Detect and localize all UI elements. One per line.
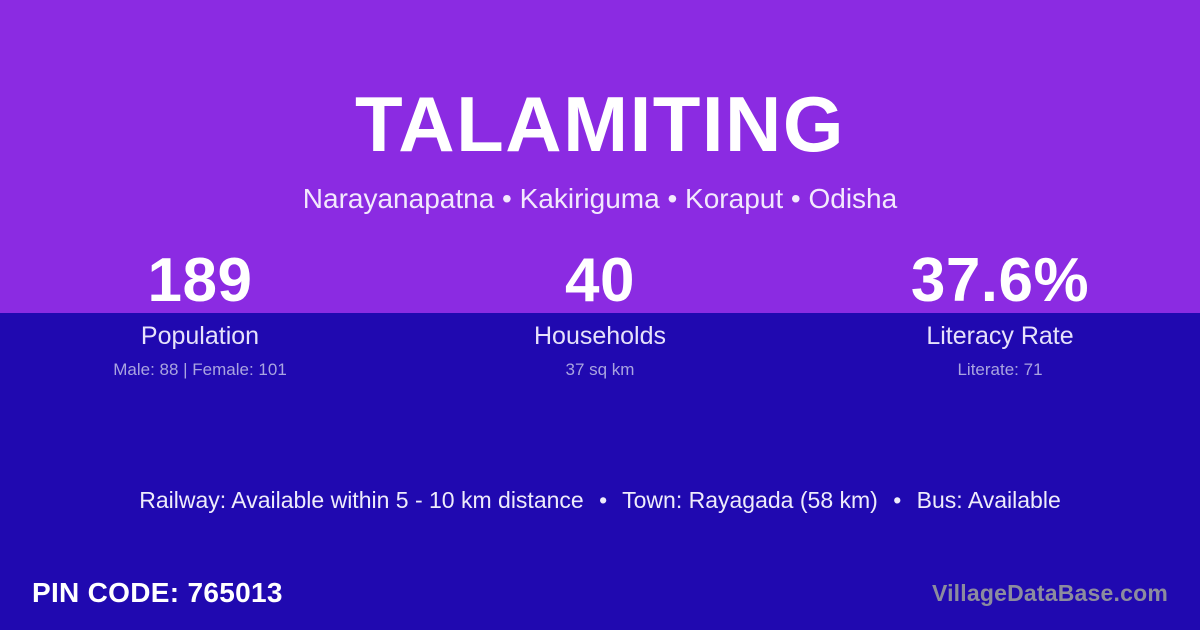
- stat-value-population: 189: [0, 248, 400, 314]
- stat-households: 40 Households 37 sq km: [400, 248, 800, 380]
- stat-sub-households: 37 sq km: [400, 360, 800, 380]
- stat-value-households: 40: [400, 248, 800, 314]
- stat-sub-population: Male: 88 | Female: 101: [0, 360, 400, 380]
- stat-population: 189 Population Male: 88 | Female: 101: [0, 248, 400, 380]
- transport-separator-1: •: [590, 487, 616, 513]
- pin-code-label: PIN CODE: 765013: [32, 577, 283, 609]
- transport-town: Town: Rayagada (58 km): [622, 487, 878, 513]
- transport-info: Railway: Available within 5 - 10 km dist…: [0, 486, 1200, 514]
- stat-label-literacy-rate: Literacy Rate: [800, 322, 1200, 351]
- breadcrumb-location: Narayanapatna • Kakiriguma • Koraput • O…: [0, 182, 1200, 216]
- stat-sub-literacy-rate: Literate: 71: [800, 360, 1200, 380]
- transport-separator-2: •: [884, 487, 910, 513]
- site-brand-label: VillageDataBase.com: [932, 580, 1168, 607]
- stat-value-literacy-rate: 37.6%: [800, 248, 1200, 314]
- transport-railway: Railway: Available within 5 - 10 km dist…: [139, 487, 583, 513]
- transport-bus: Bus: Available: [917, 487, 1061, 513]
- stat-label-households: Households: [400, 322, 800, 351]
- stat-label-population: Population: [0, 322, 400, 351]
- footer-bar: PIN CODE: 765013 VillageDataBase.com: [0, 572, 1200, 614]
- page-title: TALAMITING: [0, 82, 1200, 166]
- stats-row: 189 Population Male: 88 | Female: 101 40…: [0, 248, 1200, 380]
- stat-literacy-rate: 37.6% Literacy Rate Literate: 71: [800, 248, 1200, 380]
- village-info-card: TALAMITING Narayanapatna • Kakiriguma • …: [0, 0, 1200, 630]
